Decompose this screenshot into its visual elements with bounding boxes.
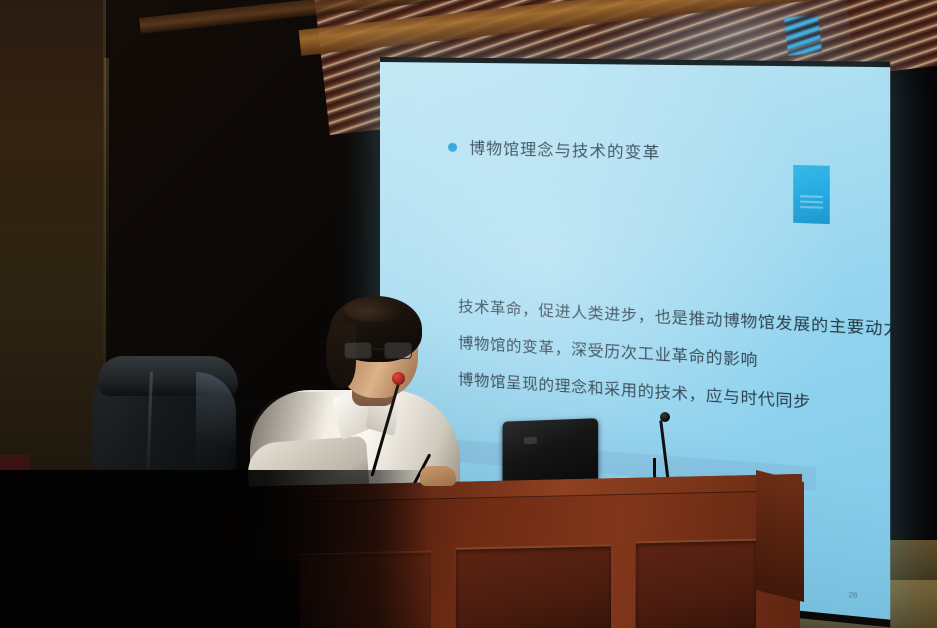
slide-page-number: 28 <box>848 592 857 600</box>
stage-panel-edge <box>104 58 109 358</box>
podium-panel-center <box>455 544 611 628</box>
podium-panel-right <box>635 539 756 628</box>
slide-title: 博物馆理念与技术的变革 <box>469 136 660 163</box>
slide-title-row: 博物馆理念与技术的变革 <box>448 136 660 164</box>
podium-right-edge <box>756 470 804 602</box>
ceiling-blue-reflection <box>784 14 822 56</box>
microphone-secondary-head <box>660 412 670 422</box>
foreground-shadow <box>0 560 300 628</box>
corner-logo-block <box>793 165 830 224</box>
glasses-bridge <box>370 348 384 350</box>
glasses-icon <box>344 342 410 357</box>
laptop-lid-logo <box>524 437 537 445</box>
speaker-hair-highlight <box>344 296 402 322</box>
bullet-dot-icon <box>448 142 457 151</box>
presenter-laptop <box>503 418 599 486</box>
lecture-hall-photo: 博物馆理念与技术的变革 技术革命，促进人类进步，也是推动博物馆发展的主要动力 博… <box>0 0 937 628</box>
slide-body: 技术革命，促进人类进步，也是推动博物馆发展的主要动力 博物馆的变革，深受历次工业… <box>458 288 860 425</box>
speaker-hand <box>420 466 456 486</box>
glasses-lens-right <box>384 342 412 359</box>
glasses-lens-left <box>344 342 372 359</box>
microphone-primary-windscreen <box>392 372 405 385</box>
